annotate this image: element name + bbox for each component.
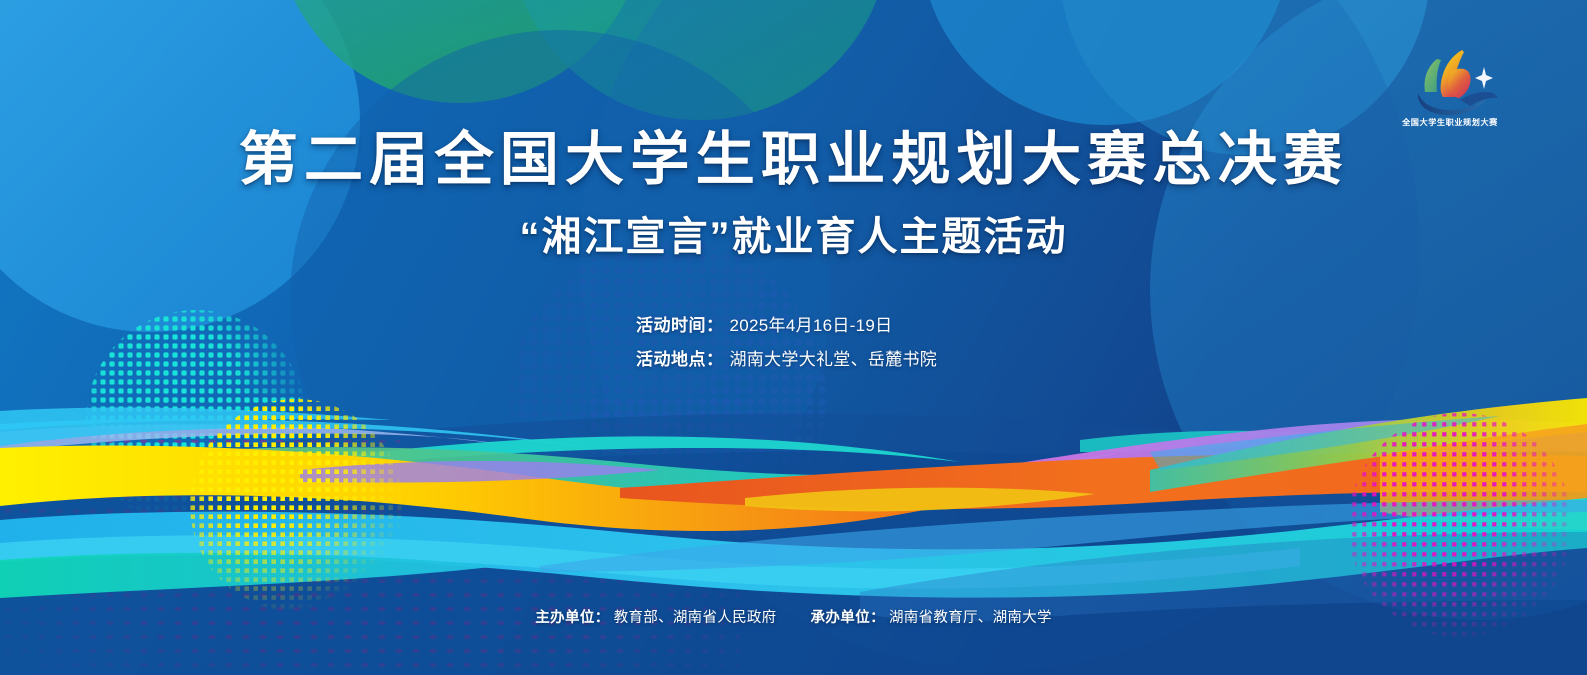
main-title: 第二届全国大学生职业规划大赛总决赛: [0, 126, 1587, 194]
event-place-row: 活动地点： 湖南大学大礼堂、岳麓书院: [636, 351, 937, 368]
event-time-row: 活动时间： 2025年4月16日-19日: [636, 317, 937, 334]
title-block: 第二届全国大学生职业规划大赛总决赛 “湘江宣言”就业育人主题活动: [0, 126, 1587, 262]
organizer-footer: 主办单位： 教育部、湖南省人民政府 承办单位： 湖南省教育厅、湖南大学: [0, 606, 1587, 627]
host-value: 教育部、湖南省人民政府: [614, 606, 777, 627]
event-banner: 全国大学生职业规划大赛 第二届全国大学生职业规划大赛总决赛 “湘江宣言”就业育人…: [0, 0, 1587, 675]
host-label: 主办单位：: [535, 606, 610, 627]
sailboat-logo-icon: [1396, 45, 1504, 115]
event-place-label: 活动地点：: [636, 351, 724, 368]
sub-title: “湘江宣言”就业育人主题活动: [0, 204, 1587, 262]
host-group: 主办单位： 教育部、湖南省人民政府: [535, 606, 776, 627]
organizer-group: 承办单位： 湖南省教育厅、湖南大学: [811, 606, 1052, 627]
organizer-value: 湖南省教育厅、湖南大学: [889, 606, 1052, 627]
event-info: 活动时间： 2025年4月16日-19日 活动地点： 湖南大学大礼堂、岳麓书院: [636, 317, 937, 385]
event-time-value: 2025年4月16日-19日: [730, 317, 893, 334]
event-place-value: 湖南大学大礼堂、岳麓书院: [730, 351, 938, 368]
organizer-label: 承办单位：: [811, 606, 886, 627]
event-time-label: 活动时间：: [636, 317, 724, 334]
